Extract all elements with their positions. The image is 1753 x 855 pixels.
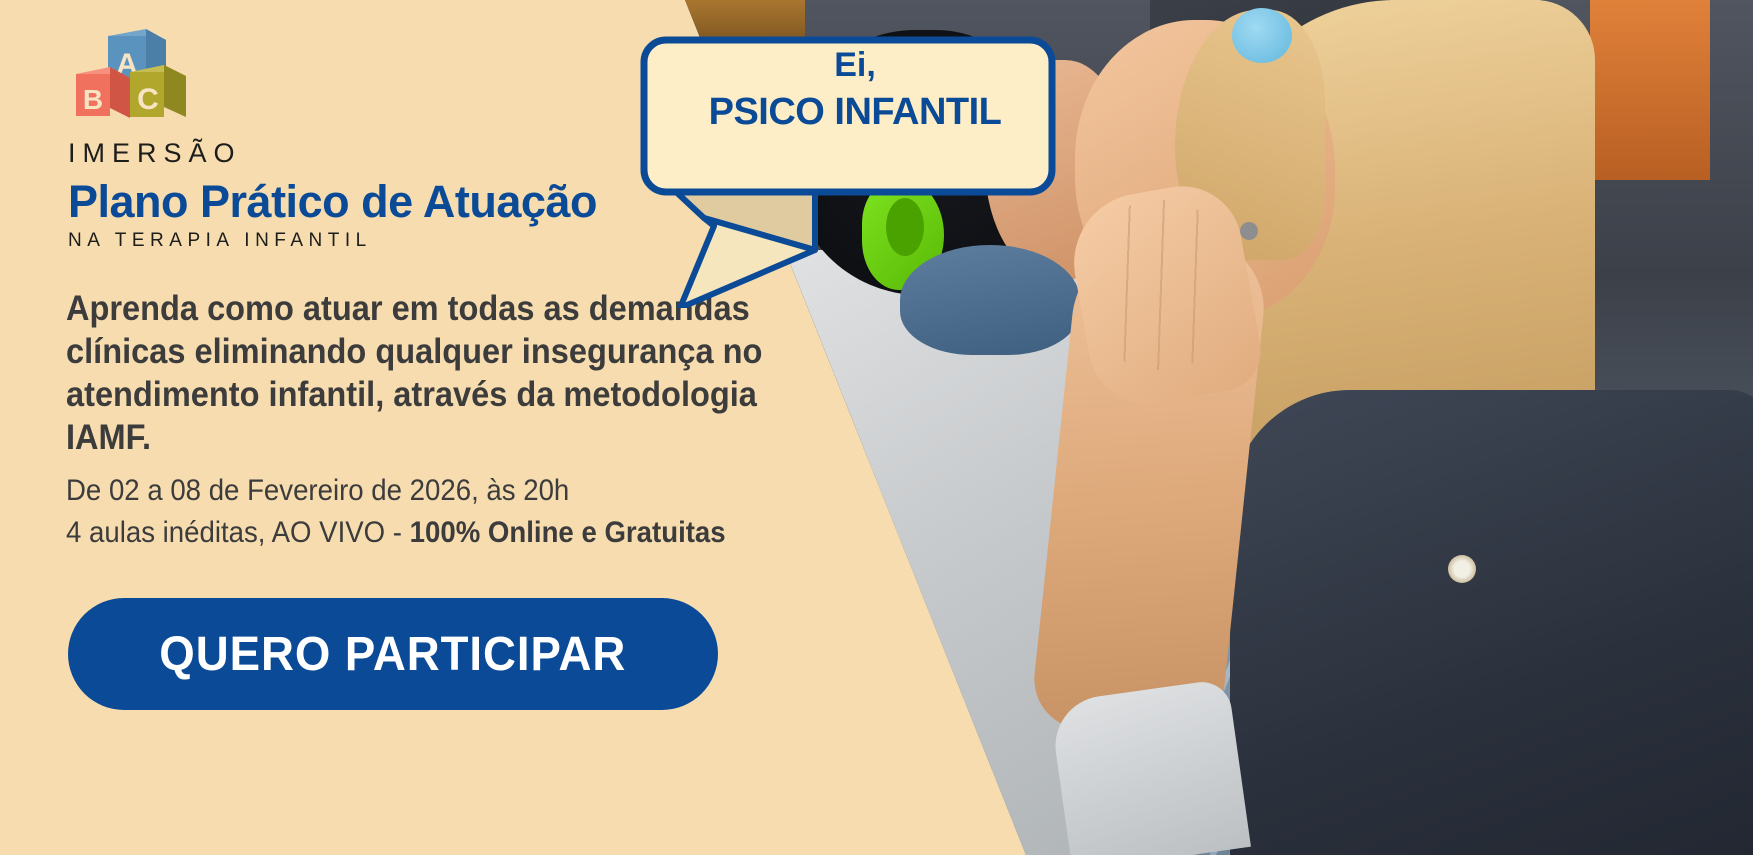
photo-girl-hand-fingers xyxy=(1095,200,1225,370)
svg-text:B: B xyxy=(83,84,103,115)
page-title: Plano Prático de Atuação xyxy=(68,176,597,228)
brand-kicker: IMERSÃO xyxy=(68,138,242,169)
block-c: C xyxy=(130,65,186,117)
abc-blocks-icon: A B C xyxy=(68,24,198,129)
quero-participar-button[interactable]: QUERO PARTICIPAR xyxy=(68,598,718,710)
photo-girl-shirt xyxy=(1230,390,1753,855)
photo-girl-hair-clip xyxy=(1232,8,1292,63)
schedule-line-2-bold: 100% Online e Gratuitas xyxy=(410,516,726,549)
cta-label: QUERO PARTICIPAR xyxy=(159,627,626,682)
headline-text: Aprenda como atuar em todas as demandas … xyxy=(66,287,773,459)
schedule-line-2: 4 aulas inéditas, AO VIVO - 100% Online … xyxy=(66,512,876,554)
photo-girl-earring xyxy=(1240,222,1258,240)
block-b: B xyxy=(76,67,130,118)
svg-text:C: C xyxy=(137,83,159,116)
schedule-line-1: De 02 a 08 de Fevereiro de 2026, às 20h xyxy=(66,470,876,512)
photo-boy-sleeve xyxy=(1049,678,1251,855)
schedule-line-2-plain: 4 aulas inéditas, AO VIVO - xyxy=(66,516,410,549)
promo-banner: A B C IMERSÃO Plano Prático de xyxy=(0,0,1753,855)
photo-shirt-flower-print xyxy=(1448,555,1476,583)
bubble-body xyxy=(644,40,1052,192)
brand-subkicker: NA TERAPIA INFANTIL xyxy=(68,230,372,252)
speech-bubble xyxy=(630,18,1060,308)
schedule-block: De 02 a 08 de Fevereiro de 2026, às 20h … xyxy=(66,470,876,554)
photo-wall-orange-panel xyxy=(1590,0,1710,180)
